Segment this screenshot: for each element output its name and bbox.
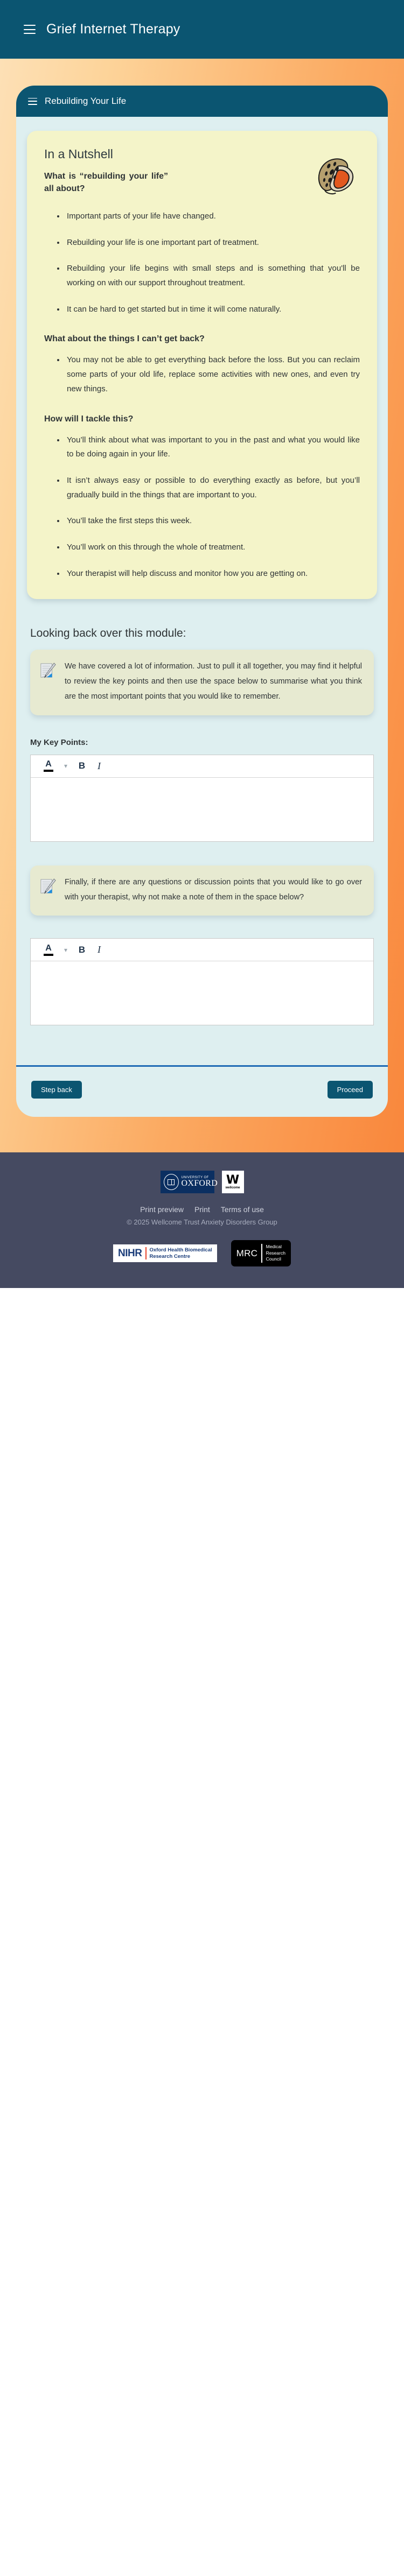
wellcome-logo: W wellcome bbox=[222, 1171, 244, 1193]
print-link[interactable]: Print bbox=[194, 1205, 210, 1214]
module-hamburger-icon[interactable] bbox=[28, 98, 37, 105]
nutshell-bullets-2: You may not be able to get everything ba… bbox=[56, 353, 360, 396]
note-text-summary: We have covered a lot of information. Ju… bbox=[65, 659, 362, 704]
list-item: Rebuilding your life begins with small s… bbox=[56, 262, 360, 290]
nutshell-bullets-1: Important parts of your life have change… bbox=[56, 209, 360, 316]
mrc-divider bbox=[261, 1244, 262, 1262]
list-item: It can be hard to get started but in tim… bbox=[56, 302, 360, 317]
questions-editor: A ▾ B I bbox=[30, 938, 374, 1025]
memo-pen-icon bbox=[40, 878, 56, 896]
mrc-line3: Council bbox=[266, 1256, 285, 1262]
app-header: Grief Internet Therapy bbox=[0, 0, 404, 59]
wellcome-label: wellcome bbox=[225, 1186, 240, 1190]
terms-of-use-link[interactable]: Terms of use bbox=[221, 1205, 264, 1214]
footer-links: Print preview Print Terms of use bbox=[0, 1205, 404, 1214]
oxford-logo-line2: OXFORD bbox=[182, 1179, 218, 1188]
list-item: It isn’t always easy or possible to do e… bbox=[56, 474, 360, 502]
nutshell-question-3: How will I tackle this? bbox=[44, 413, 360, 426]
hamburger-icon[interactable] bbox=[24, 25, 36, 34]
mrc-line2: Research bbox=[266, 1250, 285, 1256]
key-points-input[interactable] bbox=[31, 778, 373, 841]
chevron-down-icon[interactable]: ▾ bbox=[59, 942, 73, 958]
module-panel: Rebuilding Your Life In a Nutshell What … bbox=[16, 86, 388, 1117]
editor-toolbar-2: A ▾ B I bbox=[31, 939, 373, 961]
copyright-text: © 2025 Wellcome Trust Anxiety Disorders … bbox=[0, 1218, 404, 1226]
nihr-mark: NIHR bbox=[118, 1248, 142, 1259]
app-title: Grief Internet Therapy bbox=[46, 22, 180, 37]
mrc-mark: MRC bbox=[236, 1248, 258, 1259]
list-item: You may not be able to get everything ba… bbox=[56, 353, 360, 396]
page-footer: UNIVERSITY OF OXFORD W wellcome Print pr… bbox=[0, 1152, 404, 1287]
list-item: You’ll think about what was important to… bbox=[56, 433, 360, 462]
mrc-logo: MRC Medical Research Council bbox=[231, 1240, 291, 1266]
note-box-questions: Finally, if there are any questions or d… bbox=[30, 865, 374, 916]
list-item: Important parts of your life have change… bbox=[56, 209, 360, 224]
module-body: In a Nutshell What is “rebuilding your l… bbox=[16, 117, 388, 1065]
bold-button[interactable]: B bbox=[75, 758, 89, 774]
italic-button[interactable]: I bbox=[91, 942, 107, 958]
mrc-line1: Medical bbox=[266, 1244, 285, 1250]
orange-backdrop: Rebuilding Your Life In a Nutshell What … bbox=[0, 59, 404, 1152]
module-title: Rebuilding Your Life bbox=[45, 96, 126, 107]
nutshell-title: In a Nutshell bbox=[44, 147, 303, 161]
memo-pen-icon bbox=[40, 663, 56, 680]
editor-toolbar-1: A ▾ B I bbox=[31, 755, 373, 778]
oxford-logo: UNIVERSITY OF OXFORD bbox=[161, 1171, 214, 1193]
key-points-label: My Key Points: bbox=[30, 738, 377, 747]
list-item: You’ll work on this through the whole of… bbox=[56, 540, 360, 555]
text-color-glyph: A bbox=[45, 944, 52, 953]
nihr-divider bbox=[145, 1247, 147, 1259]
print-preview-link[interactable]: Print preview bbox=[140, 1205, 184, 1214]
text-color-icon[interactable]: A bbox=[40, 942, 57, 958]
text-color-icon[interactable]: A bbox=[40, 758, 57, 774]
oxford-crest-icon bbox=[164, 1174, 179, 1190]
list-item: You’ll take the first steps this week. bbox=[56, 514, 360, 529]
funder-logo-row-top: UNIVERSITY OF OXFORD W wellcome bbox=[0, 1171, 404, 1193]
nihr-line1: Oxford Health Biomedical bbox=[150, 1247, 212, 1253]
bold-button[interactable]: B bbox=[75, 942, 89, 958]
proceed-button[interactable]: Proceed bbox=[328, 1081, 373, 1099]
nihr-logo: NIHR Oxford Health Biomedical Research C… bbox=[113, 1244, 217, 1262]
nutshell-question-2: What about the things I can’t get back? bbox=[44, 333, 360, 346]
cracked-nutshell-icon bbox=[310, 150, 360, 202]
note-text-questions: Finally, if there are any questions or d… bbox=[65, 875, 362, 905]
nutshell-question-1: What is “rebuilding your life” all about… bbox=[44, 170, 168, 195]
questions-input[interactable] bbox=[31, 961, 373, 1025]
text-color-glyph: A bbox=[45, 760, 52, 769]
nutshell-header: In a Nutshell What is “rebuilding your l… bbox=[44, 147, 360, 202]
list-item: Your therapist will help discuss and mon… bbox=[56, 567, 360, 581]
wellcome-mark: W bbox=[226, 1175, 239, 1186]
module-header: Rebuilding Your Life bbox=[16, 86, 388, 117]
in-a-nutshell-card: In a Nutshell What is “rebuilding your l… bbox=[27, 131, 377, 599]
italic-button[interactable]: I bbox=[91, 758, 107, 774]
nutshell-bullets-3: You’ll think about what was important to… bbox=[56, 433, 360, 581]
navigation-buttons: Step back Proceed bbox=[16, 1067, 388, 1117]
funder-logo-row-bottom: NIHR Oxford Health Biomedical Research C… bbox=[0, 1240, 404, 1266]
text-color-swatch bbox=[44, 954, 53, 956]
lookback-heading: Looking back over this module: bbox=[30, 627, 377, 640]
list-item: Rebuilding your life is one important pa… bbox=[56, 236, 360, 250]
note-box-summary: We have covered a lot of information. Ju… bbox=[30, 650, 374, 715]
step-back-button[interactable]: Step back bbox=[31, 1081, 82, 1099]
text-color-swatch bbox=[44, 770, 53, 772]
chevron-down-icon[interactable]: ▾ bbox=[59, 758, 73, 774]
nihr-line2: Research Centre bbox=[150, 1254, 212, 1259]
key-points-editor: A ▾ B I bbox=[30, 755, 374, 842]
